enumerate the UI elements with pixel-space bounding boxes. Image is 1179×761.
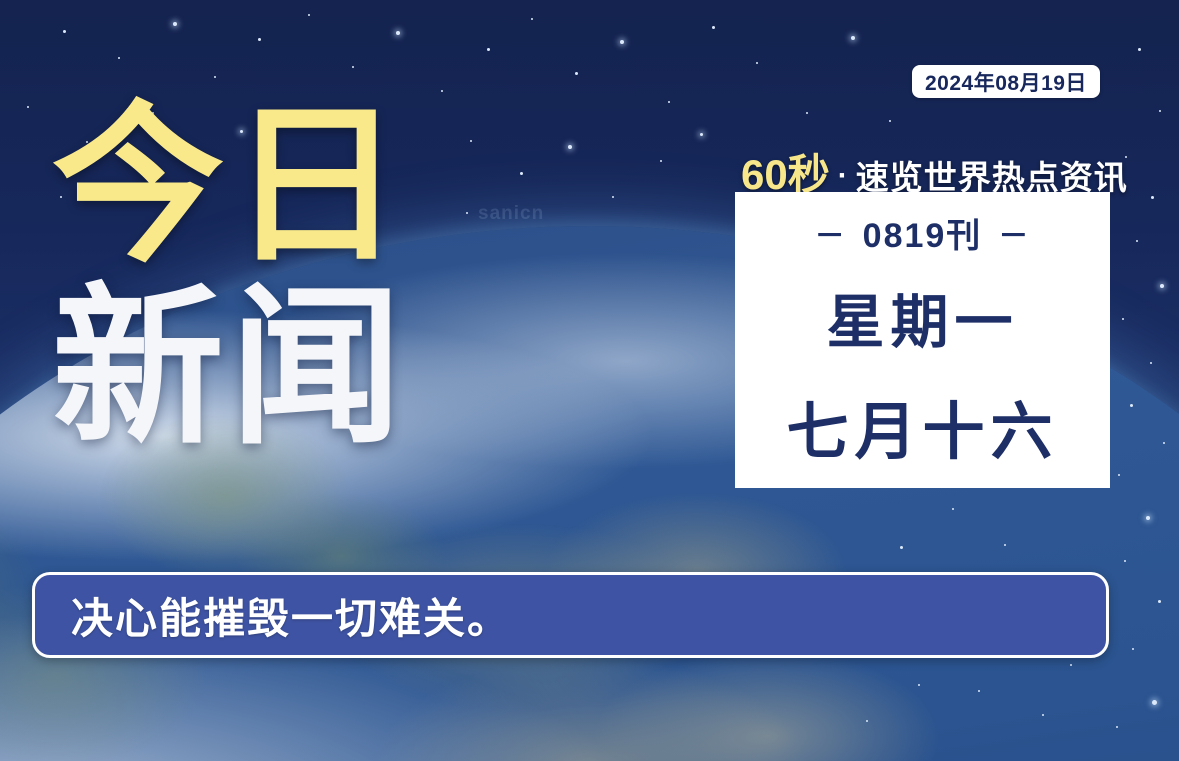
weekday-label: 星期一 xyxy=(826,275,1018,359)
headline-line-2: 新闻 xyxy=(52,282,472,454)
news-poster: sanicn 2024年08月19日 60秒 · 速览世界热点资讯 － 0819… xyxy=(0,0,1179,761)
headline-line-1: 今日 xyxy=(52,100,472,272)
issue-number: 0819刊 xyxy=(863,208,983,257)
issue-line: － 0819刊 － xyxy=(815,208,1031,257)
calendar-card: － 0819刊 － 星期一 七月十六 xyxy=(735,192,1110,488)
issue-dash-right: － xyxy=(998,211,1030,255)
date-badge: 2024年08月19日 xyxy=(912,65,1100,98)
quote-bar: 决心能摧毁一切难关。 xyxy=(32,572,1109,658)
issue-dash-left: － xyxy=(815,211,847,255)
background-watermark: sanicn xyxy=(478,203,544,225)
lunar-date-label: 七月十六 xyxy=(786,381,1058,471)
quote-text: 决心能摧毁一切难关。 xyxy=(71,585,511,646)
tagline-separator: · xyxy=(832,159,854,193)
headline: 今日 新闻 xyxy=(52,100,472,454)
